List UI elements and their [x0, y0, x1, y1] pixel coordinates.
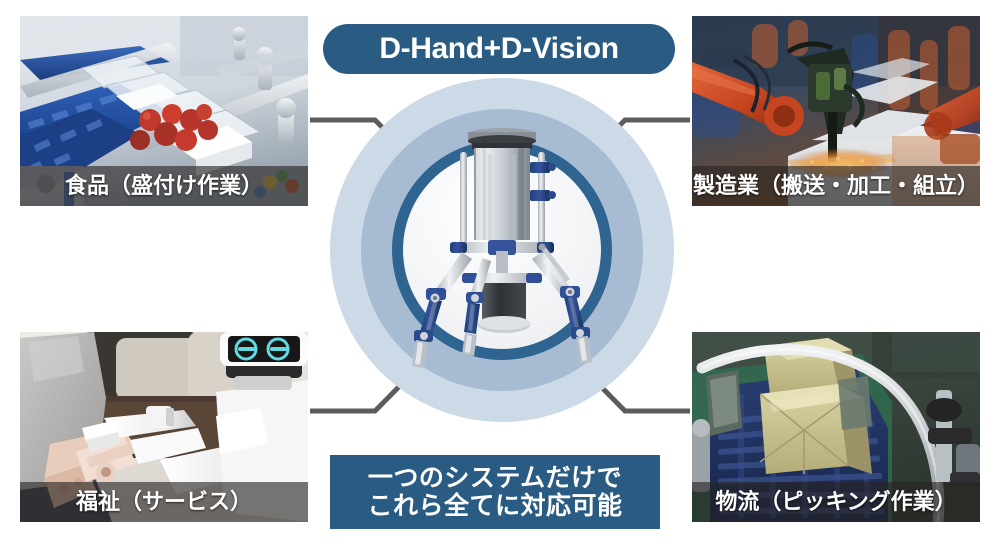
title-label: D-Hand+D-Vision: [379, 34, 618, 64]
panel-manufacturing[interactable]: 製造業（搬送・加工・組立）: [692, 16, 980, 206]
panel-logistics-label-bar: 物流（ピッキング作業）: [692, 482, 980, 522]
panel-food[interactable]: 食品（盛付け作業）: [20, 16, 308, 206]
panel-food-label: 食品（盛付け作業）: [65, 175, 263, 197]
panel-food-label-bar: 食品（盛付け作業）: [20, 166, 308, 206]
summary-caption-line2: これら全てに対応可能: [367, 492, 622, 521]
summary-caption-box: 一つのシステムだけで これら全てに対応可能: [330, 455, 660, 529]
panel-manufacturing-label-bar: 製造業（搬送・加工・組立）: [692, 166, 980, 206]
panel-welfare-label-bar: 福祉（サービス）: [20, 482, 308, 522]
panel-manufacturing-label: 製造業（搬送・加工・組立）: [693, 175, 979, 197]
panel-welfare-label: 福祉（サービス）: [76, 491, 252, 513]
title-pill: D-Hand+D-Vision: [323, 24, 675, 74]
summary-caption-line1: 一つのシステムだけで: [368, 464, 622, 493]
robot-gripper-icon: [390, 118, 614, 368]
panel-logistics[interactable]: 物流（ピッキング作業）: [692, 332, 980, 522]
panel-logistics-label: 物流（ピッキング作業）: [715, 491, 956, 513]
panel-welfare[interactable]: 福祉（サービス）: [20, 332, 308, 522]
infographic-canvas: D-Hand+D-Vision 一つのシステムだけで これら全てに対応可能: [0, 0, 1000, 546]
